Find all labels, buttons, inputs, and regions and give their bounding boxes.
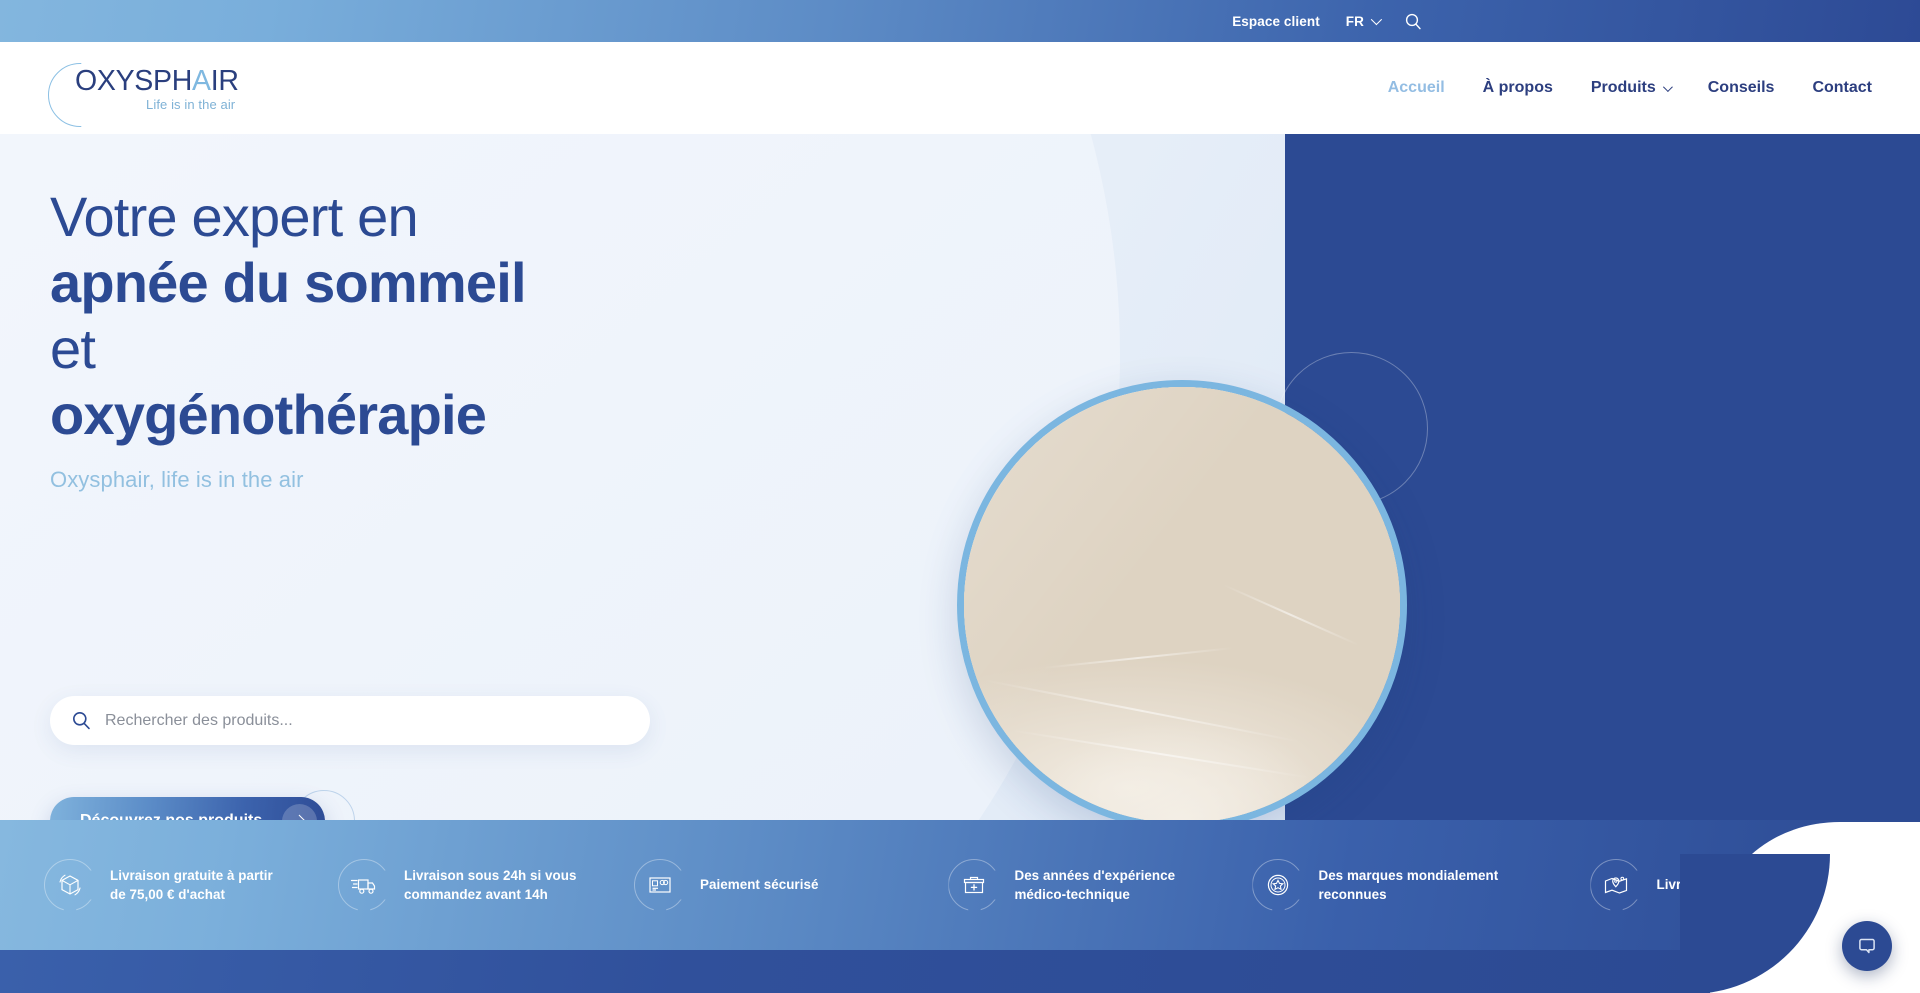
main-navigation: Accueil À propos Produits Conseils Conta… <box>1388 79 1872 97</box>
hero-image <box>957 380 1407 820</box>
feature-secure-payment: Paiement sécurisé <box>634 859 818 911</box>
language-selector[interactable]: FR <box>1346 14 1379 29</box>
language-label: FR <box>1346 14 1364 29</box>
feature-label: Livraison gratuite à partir de 75,00 € d… <box>110 866 290 904</box>
feature-medical-experience: Des années d'expérience médico-technique <box>948 859 1214 911</box>
award-badge-icon <box>1252 859 1304 911</box>
page-root: Espace client FR OXYSPHAIR Life is in th… <box>0 0 1920 993</box>
package-rotate-icon <box>44 859 96 911</box>
nav-item-produits[interactable]: Produits <box>1591 79 1670 97</box>
search-icon[interactable] <box>1405 13 1422 30</box>
logo-word-part1: OXYSPH <box>75 65 192 97</box>
nav-item-a-propos[interactable]: À propos <box>1483 79 1553 97</box>
map-pin-icon <box>1590 859 1642 911</box>
cta-wrapper: Découvrez nos produits <box>50 797 325 820</box>
page-title: Votre expert en apnée du sommeil et oxyg… <box>50 184 710 448</box>
site-header: OXYSPHAIR Life is in the air Accueil À p… <box>0 42 1920 134</box>
heading-line-1: Votre expert en <box>50 184 710 250</box>
nav-item-label: Contact <box>1812 79 1872 97</box>
search-input[interactable] <box>105 712 628 730</box>
medical-kit-icon <box>948 859 1000 911</box>
client-area-link[interactable]: Espace client <box>1232 14 1320 29</box>
feature-label: Livraison sous 24h si vous commandez ava… <box>404 866 584 904</box>
chat-widget-button[interactable] <box>1842 921 1892 971</box>
nav-item-accueil[interactable]: Accueil <box>1388 79 1445 97</box>
hero-section: Votre expert en apnée du sommeil et oxyg… <box>0 134 1920 820</box>
cta-label: Découvrez nos produits <box>80 812 262 820</box>
logo-wordmark: OXYSPHAIR <box>75 65 239 98</box>
delivery-truck-icon <box>338 859 390 911</box>
nav-item-label: Produits <box>1591 79 1656 97</box>
hero-copy: Votre expert en apnée du sommeil et oxyg… <box>50 184 710 493</box>
utility-bar: Espace client FR <box>0 0 1920 42</box>
feature-24h-delivery: Livraison sous 24h si vous commandez ava… <box>338 859 584 911</box>
feature-free-shipping: Livraison gratuite à partir de 75,00 € d… <box>44 859 290 911</box>
logo[interactable]: OXYSPHAIR Life is in the air <box>48 57 248 119</box>
product-search-box[interactable] <box>50 696 650 745</box>
chevron-down-icon <box>1371 14 1382 25</box>
heading-line-2: apnée du sommeil <box>50 250 710 316</box>
footer-strip <box>0 950 1920 993</box>
discover-products-button[interactable]: Découvrez nos produits <box>50 797 325 820</box>
chevron-down-icon <box>1663 82 1673 92</box>
heading-line-3: et <box>50 316 710 382</box>
hero-photo-overlay <box>964 387 1400 820</box>
feature-recognized-brands: Des marques mondialement reconnues <box>1252 859 1518 911</box>
nav-item-label: Accueil <box>1388 79 1445 97</box>
nav-item-label: À propos <box>1483 79 1553 97</box>
hero-subtitle: Oxysphair, life is in the air <box>50 467 710 493</box>
feature-label: Des marques mondialement reconnues <box>1318 866 1518 904</box>
feature-label: Des années d'expérience médico-technique <box>1014 866 1214 904</box>
features-bar: Livraison gratuite à partir de 75,00 € d… <box>0 820 1920 950</box>
nav-item-label: Conseils <box>1708 79 1775 97</box>
nav-item-conseils[interactable]: Conseils <box>1708 79 1775 97</box>
chevron-right-icon <box>282 804 317 821</box>
logo-tagline: Life is in the air <box>146 97 235 112</box>
logo-word-accent: A <box>192 65 211 97</box>
nav-item-contact[interactable]: Contact <box>1812 79 1872 97</box>
search-icon <box>72 711 91 730</box>
feature-label: Paiement sécurisé <box>700 875 818 894</box>
heading-line-4: oxygénothérapie <box>50 382 710 448</box>
chat-bubble-icon <box>1856 935 1878 957</box>
logo-word-part2: IR <box>211 65 239 97</box>
credit-card-icon <box>634 859 686 911</box>
